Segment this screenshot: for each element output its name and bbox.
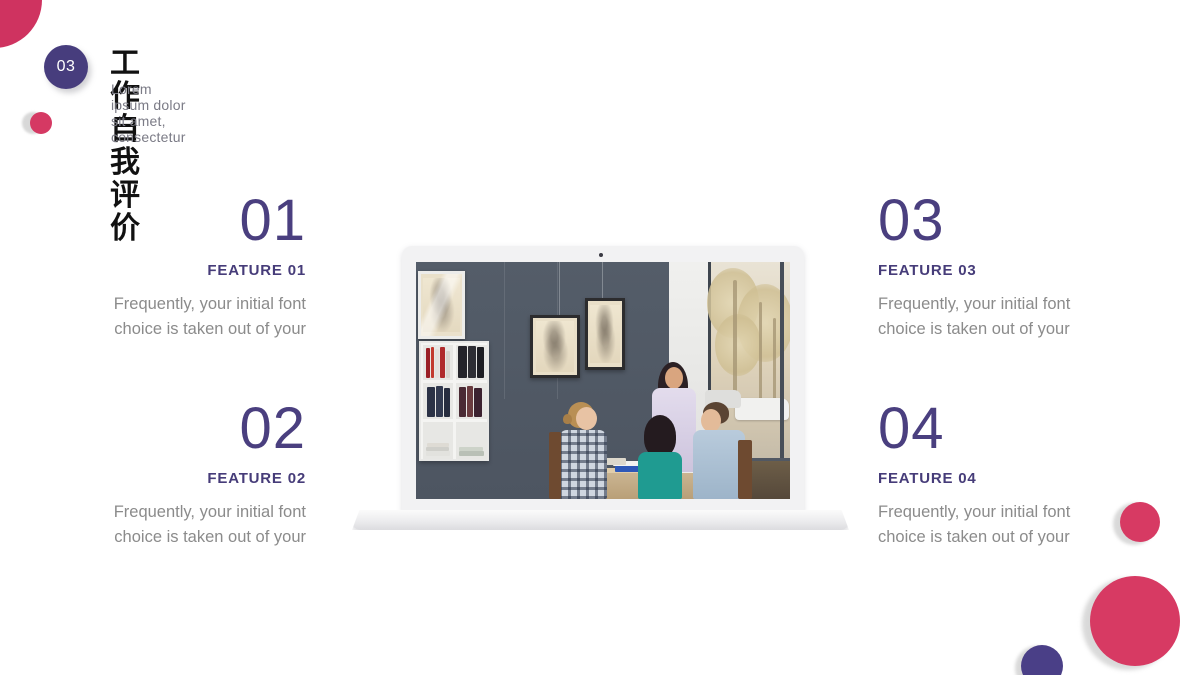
bottom-right-large-crimson-blob: [1090, 576, 1180, 666]
feature-description-02: Frequently, your initial font choice is …: [6, 500, 306, 550]
webcam-icon: [599, 253, 603, 257]
photo-framed-art: [418, 271, 465, 339]
feature-number-04: 04: [878, 400, 1178, 458]
photo-shelf-cell: [423, 345, 453, 380]
office-meeting-photo: [416, 262, 790, 499]
feature-label-01: FEATURE 01: [6, 262, 306, 279]
photo-book: [427, 387, 435, 417]
photo-face: [665, 367, 683, 389]
page-subtitle: Lorem ipsum dolor sit amet, consectetur: [111, 81, 186, 145]
feature-label-02: FEATURE 02: [6, 470, 306, 487]
photo-wall-seam: [504, 262, 505, 399]
photo-book: [459, 451, 484, 456]
photo-art-sketch: [536, 321, 575, 371]
photo-shelf-cell: [423, 383, 453, 419]
photo-book: [446, 351, 450, 378]
photo-book: [474, 388, 482, 417]
feature-block-01: 01 FEATURE 01 Frequently, your initial f…: [6, 192, 306, 342]
photo-plaid-shirt: [559, 430, 607, 499]
photo-book: [436, 386, 443, 417]
photo-book: [444, 388, 450, 417]
photo-face: [701, 409, 721, 432]
photo-art-glare: [421, 274, 462, 336]
photo-shelf-cell: [423, 422, 453, 459]
photo-tree-foliage: [715, 314, 761, 376]
photo-chair: [738, 440, 752, 499]
feature-block-03: 03 FEATURE 03 Frequently, your initial f…: [878, 192, 1178, 342]
photo-hanging-wire: [559, 262, 560, 318]
photo-shelf-cell: [456, 345, 487, 380]
feature-block-04: 04 FEATURE 04 Frequently, your initial f…: [878, 400, 1178, 550]
feature-number-03: 03: [878, 192, 1178, 250]
photo-book: [467, 386, 473, 417]
laptop-lid: [402, 246, 804, 514]
photo-tree-trunk: [733, 280, 737, 400]
feature-description-03: Frequently, your initial font choice is …: [878, 292, 1178, 342]
photo-book: [435, 349, 439, 378]
photo-book: [459, 387, 466, 417]
feature-block-02: 02 FEATURE 02 Frequently, your initial f…: [6, 400, 306, 550]
photo-teal-top: [638, 452, 682, 499]
photo-hair: [644, 415, 676, 457]
laptop-base: [352, 510, 849, 530]
bottom-purple-dot: [1021, 645, 1063, 675]
photo-book: [426, 451, 450, 456]
photo-book: [477, 347, 484, 378]
photo-shelf-cell: [456, 422, 487, 459]
photo-tree-trunk: [759, 302, 762, 402]
top-left-small-dot: [30, 112, 52, 134]
photo-book: [459, 447, 483, 451]
photo-book: [431, 347, 434, 378]
photo-book: [458, 346, 467, 378]
feature-number-02: 02: [6, 400, 306, 458]
laptop-mockup: [352, 246, 849, 534]
photo-book: [468, 346, 476, 378]
photo-bookshelf: [419, 341, 489, 461]
feature-description-04: Frequently, your initial font choice is …: [878, 500, 1178, 550]
photo-shelf-cell: [456, 383, 487, 419]
section-number-label: 03: [57, 58, 76, 76]
photo-face: [576, 407, 597, 430]
section-number-badge: 03: [44, 45, 88, 89]
photo-hanging-wire: [602, 262, 603, 300]
feature-label-04: FEATURE 04: [878, 470, 1178, 487]
photo-framed-art: [530, 315, 580, 378]
photo-framed-art: [585, 298, 625, 370]
feature-number-01: 01: [6, 192, 306, 250]
photo-hair-bun: [563, 414, 572, 424]
slide-canvas: 03 工作自我评价 Lorem ipsum dolor sit amet, co…: [0, 0, 1200, 675]
photo-tree-trunk: [773, 318, 776, 402]
feature-description-01: Frequently, your initial font choice is …: [6, 292, 306, 342]
photo-book: [427, 443, 449, 447]
photo-book: [440, 347, 445, 378]
photo-chair: [549, 432, 561, 499]
top-left-crimson-blob: [0, 0, 42, 48]
feature-label-03: FEATURE 03: [878, 262, 1178, 279]
photo-art-sketch: [590, 305, 620, 363]
laptop-screen: [416, 262, 790, 499]
photo-book: [426, 447, 449, 451]
photo-book: [426, 348, 430, 378]
